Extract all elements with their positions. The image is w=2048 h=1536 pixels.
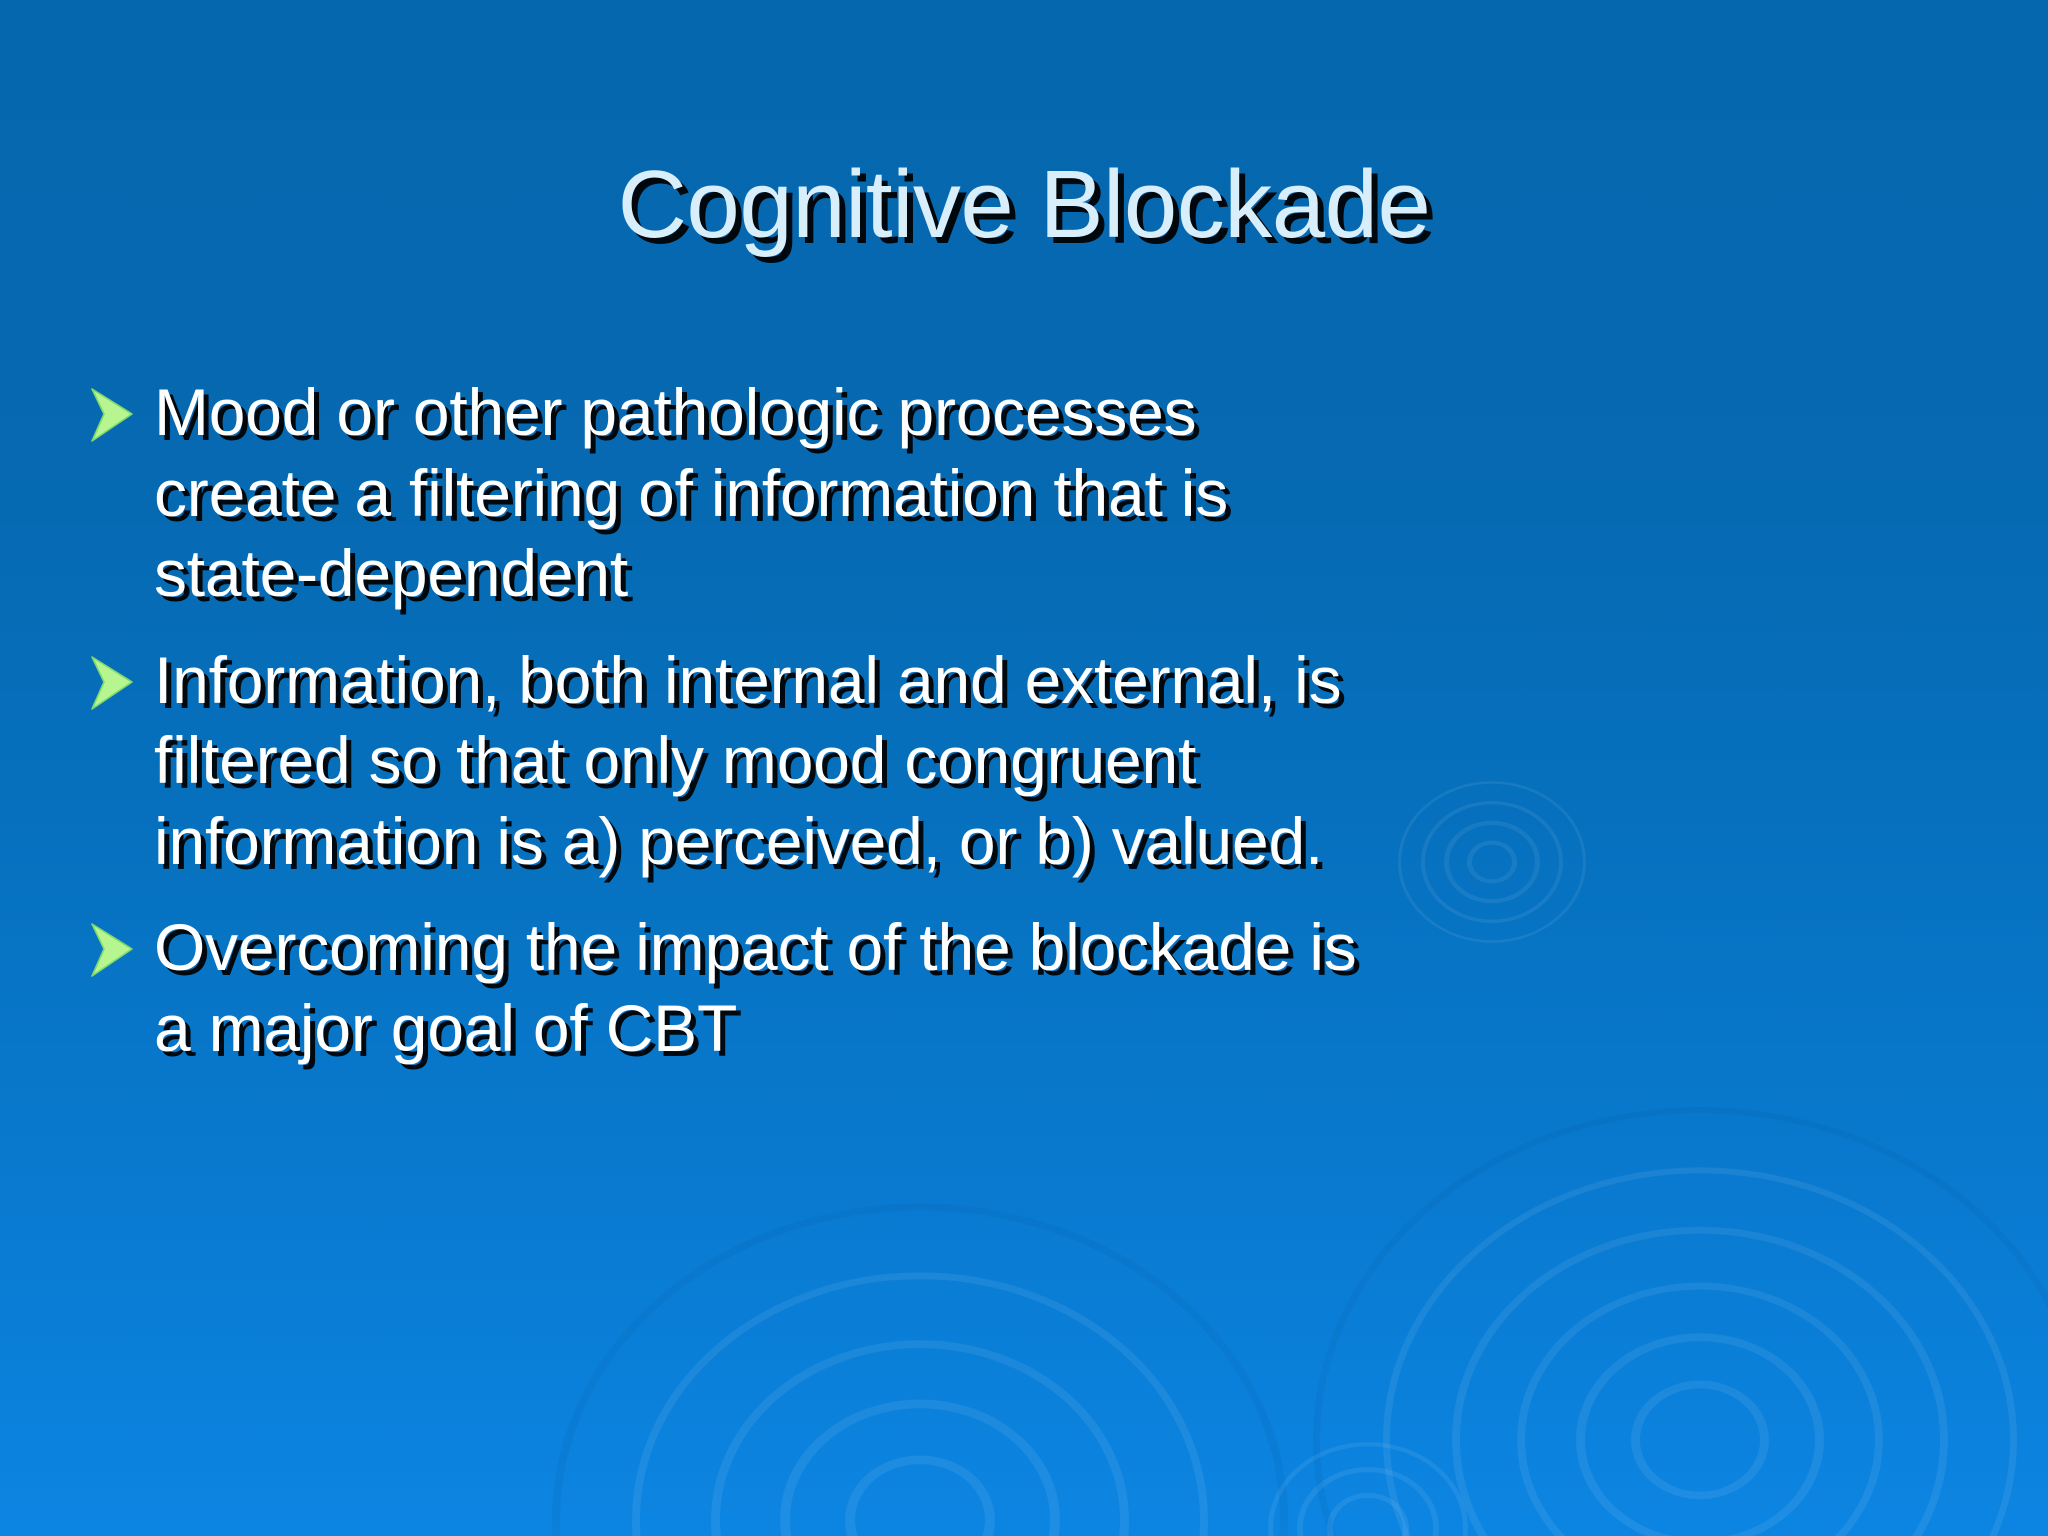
ripple-tiny-bottom bbox=[1327, 1493, 1409, 1536]
slide-title-container: Cognitive Blockade bbox=[0, 92, 2048, 319]
slide-body-bullet-list: Mood or other pathologic processes creat… bbox=[86, 372, 1976, 1068]
text-line: information is a) perceived, or b) value… bbox=[154, 801, 1976, 882]
text-line: filtered so that only mood congruent bbox=[154, 720, 1976, 801]
ripple-large-right bbox=[1383, 1167, 2017, 1536]
ripple-large-bottom-centre bbox=[711, 1340, 1129, 1536]
presentation-slide: Cognitive Blockade Mood or other patholo… bbox=[0, 0, 2048, 1536]
page-title: Cognitive Blockade bbox=[618, 156, 1431, 254]
ripple-large-bottom-centre bbox=[632, 1272, 1208, 1536]
text-line: Mood or other pathologic processes bbox=[154, 372, 1976, 453]
ripple-large-right bbox=[1576, 1333, 1824, 1536]
ripple-large-right bbox=[1313, 1107, 2048, 1536]
ripple-large-right bbox=[1517, 1283, 1883, 1536]
text-line: Information, both internal and external,… bbox=[154, 640, 1976, 721]
arrowhead-bullet-icon bbox=[86, 907, 154, 979]
arrowhead-bullet-icon bbox=[86, 640, 154, 712]
text-line: create a filtering of information that i… bbox=[154, 453, 1976, 534]
ripple-large-bottom-centre bbox=[780, 1400, 1060, 1536]
list-item: Information, both internal and external,… bbox=[86, 640, 1976, 882]
ripple-large-right bbox=[1631, 1381, 1769, 1500]
list-item-text: Overcoming the impact of the blockade is… bbox=[154, 907, 1976, 1068]
list-item-text: Information, both internal and external,… bbox=[154, 640, 1976, 882]
ripple-large-bottom-centre bbox=[552, 1204, 1288, 1536]
list-item: Mood or other pathologic processes creat… bbox=[86, 372, 1976, 614]
list-item: Overcoming the impact of the blockade is… bbox=[86, 907, 1976, 1068]
list-item-text: Mood or other pathologic processes creat… bbox=[154, 372, 1976, 614]
ripple-large-right bbox=[1452, 1227, 1948, 1536]
ripple-tiny-bottom bbox=[1268, 1442, 1468, 1536]
text-line: a major goal of CBT bbox=[154, 988, 1976, 1069]
arrowhead-bullet-icon bbox=[86, 372, 154, 444]
text-line: Overcoming the impact of the blockade is bbox=[154, 907, 1976, 988]
ripple-large-bottom-centre bbox=[845, 1456, 995, 1536]
ripple-tiny-bottom bbox=[1297, 1467, 1439, 1536]
text-line: state-dependent bbox=[154, 533, 1976, 614]
